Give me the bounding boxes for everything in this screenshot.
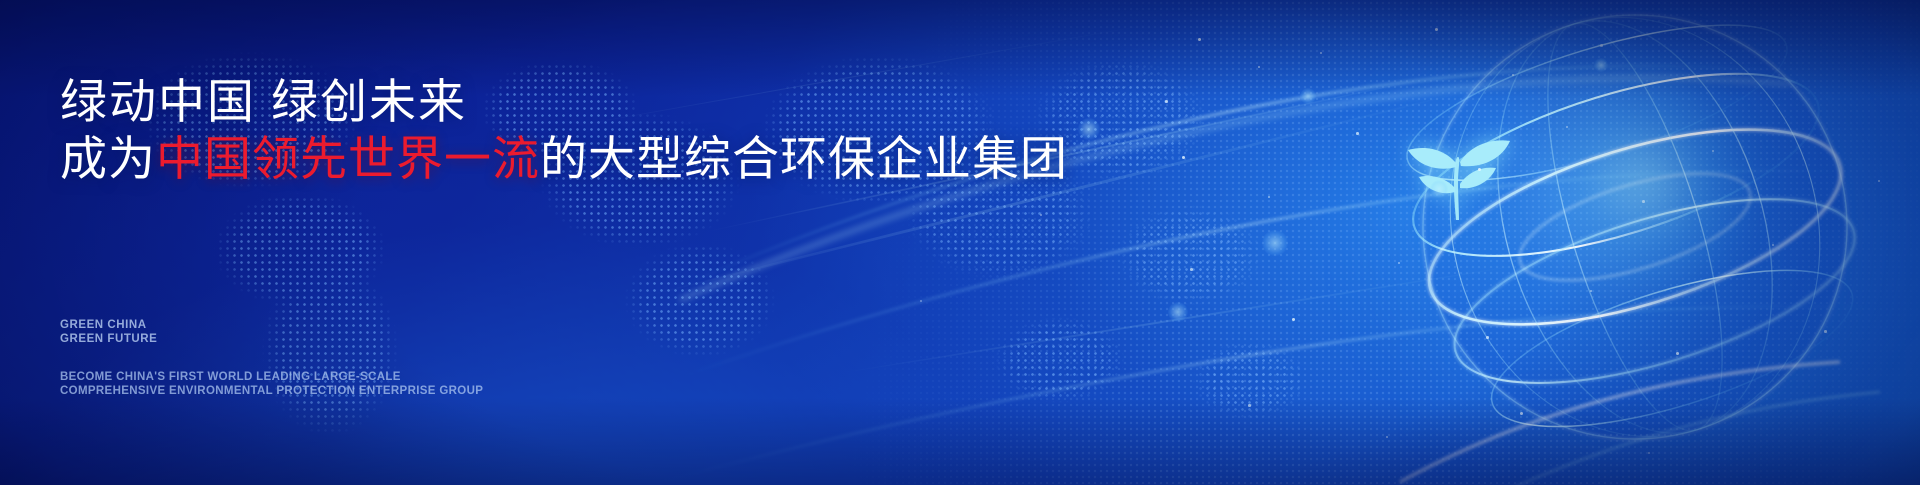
sprout-seedling-icon (1398, 118, 1518, 228)
subtitle-english: BECOME CHINA'S FIRST WORLD LEADING LARGE… (60, 370, 483, 398)
subtitle-english-line-1: BECOME CHINA'S FIRST WORLD LEADING LARGE… (60, 370, 483, 384)
headline-line-2-prefix: 成为 (60, 132, 156, 185)
tagline-english-line-2: GREEN FUTURE (60, 332, 157, 346)
tagline-english-line-1: GREEN CHINA (60, 318, 157, 332)
headline-line-1: 绿动中国 绿创未来 (60, 78, 467, 125)
headline-line-2: 成为中国领先世界一流的大型综合环保企业集团 (60, 135, 1068, 182)
headline-line-2-highlight: 中国领先世界一流 (156, 132, 540, 185)
wireframe-globe-icon (1320, 0, 1920, 485)
banner-text-block: 绿动中国 绿创未来 成为中国领先世界一流的大型综合环保企业集团 GREEN CH… (60, 0, 1060, 485)
subtitle-english-line-2: COMPREHENSIVE ENVIRONMENTAL PROTECTION E… (60, 384, 483, 398)
tagline-english: GREEN CHINA GREEN FUTURE (60, 318, 157, 346)
hero-banner: 绿动中国 绿创未来 成为中国领先世界一流的大型综合环保企业集团 GREEN CH… (0, 0, 1920, 485)
globe-wireframe-lines (1320, 0, 1920, 485)
headline-line-2-suffix: 的大型综合环保企业集团 (540, 132, 1068, 185)
